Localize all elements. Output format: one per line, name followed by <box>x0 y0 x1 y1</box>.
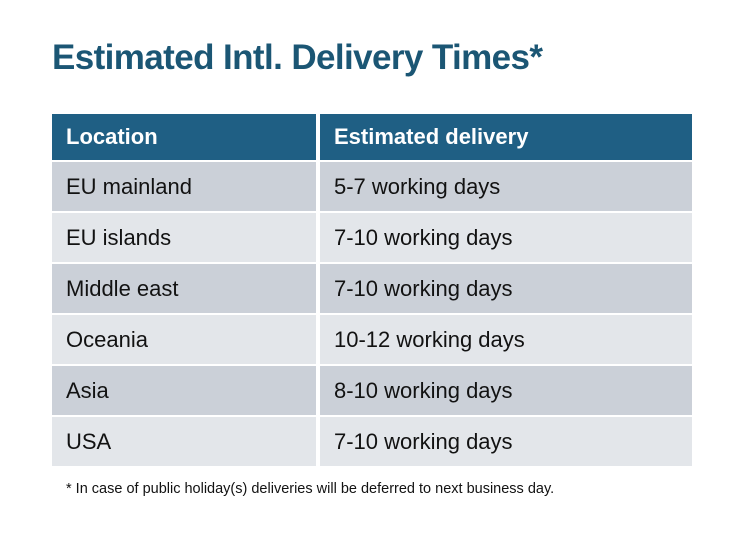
cell-estimated-delivery: 7-10 working days <box>320 213 692 262</box>
table-row: EU islands 7-10 working days <box>52 213 692 262</box>
cell-estimated-delivery: 8-10 working days <box>320 366 692 415</box>
cell-estimated-delivery: 5-7 working days <box>320 162 692 211</box>
cell-location: USA <box>52 417 316 466</box>
delivery-times-table: Location Estimated delivery EU mainland … <box>52 114 692 466</box>
page-title: Estimated Intl. Delivery Times* <box>52 36 542 80</box>
table-row: USA 7-10 working days <box>52 417 692 466</box>
column-header-location: Location <box>52 114 316 160</box>
cell-estimated-delivery: 7-10 working days <box>320 264 692 313</box>
footnote: * In case of public holiday(s) deliverie… <box>66 481 554 497</box>
table-row: EU mainland 5-7 working days <box>52 162 692 211</box>
cell-location: Oceania <box>52 315 316 364</box>
cell-estimated-delivery: 10-12 working days <box>320 315 692 364</box>
table-header-row: Location Estimated delivery <box>52 114 692 160</box>
table-row: Asia 8-10 working days <box>52 366 692 415</box>
table-row: Middle east 7-10 working days <box>52 264 692 313</box>
cell-location: Asia <box>52 366 316 415</box>
table-row: Oceania 10-12 working days <box>52 315 692 364</box>
cell-estimated-delivery: 7-10 working days <box>320 417 692 466</box>
column-header-estimated-delivery: Estimated delivery <box>320 114 692 160</box>
delivery-times-page: Estimated Intl. Delivery Times* Location… <box>0 0 745 536</box>
cell-location: EU islands <box>52 213 316 262</box>
cell-location: EU mainland <box>52 162 316 211</box>
cell-location: Middle east <box>52 264 316 313</box>
